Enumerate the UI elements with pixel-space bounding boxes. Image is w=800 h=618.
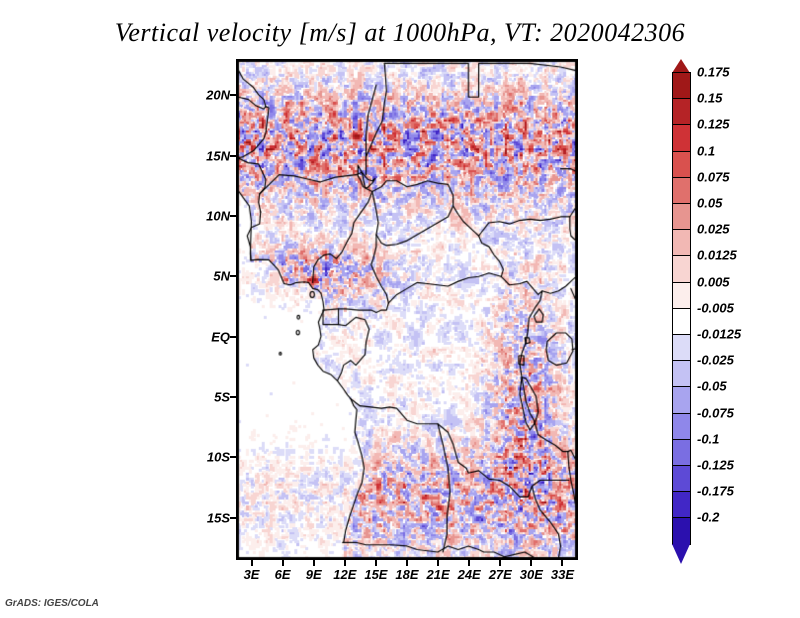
colorbar-label: -0.1	[697, 431, 719, 446]
x-axis-tick	[437, 560, 439, 566]
colorbar-label: 0.125	[697, 117, 730, 132]
y-axis-tick	[230, 215, 236, 217]
x-axis-tick	[499, 560, 501, 566]
colorbar-label: 0.15	[697, 91, 722, 106]
grads-plot-page: Vertical velocity [m/s] at 1000hPa, VT: …	[0, 0, 800, 618]
colorbar-segment	[672, 439, 691, 467]
x-axis-tick	[468, 560, 470, 566]
y-axis-label: 20N	[190, 88, 230, 103]
y-axis-label: 15S	[190, 510, 230, 525]
y-axis-tick	[230, 517, 236, 519]
colorbar-cap-bottom	[672, 544, 690, 564]
colorbar-segment	[672, 491, 691, 519]
y-axis-label: 15N	[190, 148, 230, 163]
colorbar-label: -0.025	[697, 353, 734, 368]
colorbar-segment	[672, 334, 691, 362]
x-axis-label: 9E	[306, 567, 322, 582]
y-axis-tick	[230, 336, 236, 338]
x-axis-label: 3E	[244, 567, 260, 582]
x-axis-label: 33E	[551, 567, 574, 582]
colorbar-label: -0.175	[697, 484, 734, 499]
y-axis-label: 5N	[190, 269, 230, 284]
colorbar-label: 0.175	[697, 65, 730, 80]
x-axis-tick	[530, 560, 532, 566]
x-axis-label: 12E	[333, 567, 356, 582]
colorbar-segment	[672, 308, 691, 336]
y-axis-label: 5S	[190, 390, 230, 405]
colorbar-segment	[672, 465, 691, 493]
colorbar-segment	[672, 386, 691, 414]
x-axis-label: 18E	[395, 567, 418, 582]
x-axis-label: 24E	[458, 567, 481, 582]
x-axis-tick	[282, 560, 284, 566]
colorbar-label: -0.2	[697, 510, 719, 525]
colorbar-segment	[672, 255, 691, 283]
colorbar-label: -0.05	[697, 379, 727, 394]
colorbar-label: 0.1	[697, 143, 715, 158]
x-axis-tick	[313, 560, 315, 566]
colorbar-segment	[672, 282, 691, 310]
colorbar-segment	[672, 413, 691, 441]
colorbar-label: 0.005	[697, 274, 730, 289]
x-axis-tick	[375, 560, 377, 566]
colorbar-label: -0.0125	[697, 327, 741, 342]
colorbar-segment	[672, 203, 691, 231]
colorbar-segment	[672, 360, 691, 388]
x-axis-label: 27E	[489, 567, 512, 582]
colorbar-label: 0.0125	[697, 248, 737, 263]
x-axis-label: 21E	[427, 567, 450, 582]
y-axis-tick	[230, 94, 236, 96]
colorbar-label: 0.075	[697, 169, 730, 184]
colorbar-segment	[672, 124, 691, 152]
y-axis-tick	[230, 275, 236, 277]
colorbar-label: 0.025	[697, 222, 730, 237]
y-axis-label: 10S	[190, 450, 230, 465]
colorbar-cap-top	[672, 59, 690, 73]
colorbar-segment	[672, 151, 691, 179]
x-axis-label: 30E	[520, 567, 543, 582]
y-axis-tick	[230, 396, 236, 398]
y-axis-tick	[230, 456, 236, 458]
colorbar-label: -0.125	[697, 458, 734, 473]
x-axis-tick	[251, 560, 253, 566]
x-axis-label: 15E	[364, 567, 387, 582]
x-axis-tick	[406, 560, 408, 566]
colorbar-segment	[672, 98, 691, 126]
x-axis-tick	[344, 560, 346, 566]
colorbar-segment	[672, 517, 691, 545]
y-axis-label: 10N	[190, 208, 230, 223]
colorbar-label: 0.05	[697, 196, 722, 211]
x-axis-label: 6E	[275, 567, 291, 582]
colorbar-label: -0.075	[697, 405, 734, 420]
y-axis-label: EQ	[190, 329, 230, 344]
colorbar-segment	[672, 177, 691, 205]
y-axis-tick	[230, 155, 236, 157]
x-axis-tick	[561, 560, 563, 566]
colorbar-label: -0.005	[697, 300, 734, 315]
footer-credit: GrADS: IGES/COLA	[5, 598, 99, 609]
colorbar-segment	[672, 72, 691, 100]
colorbar-segment	[672, 229, 691, 257]
